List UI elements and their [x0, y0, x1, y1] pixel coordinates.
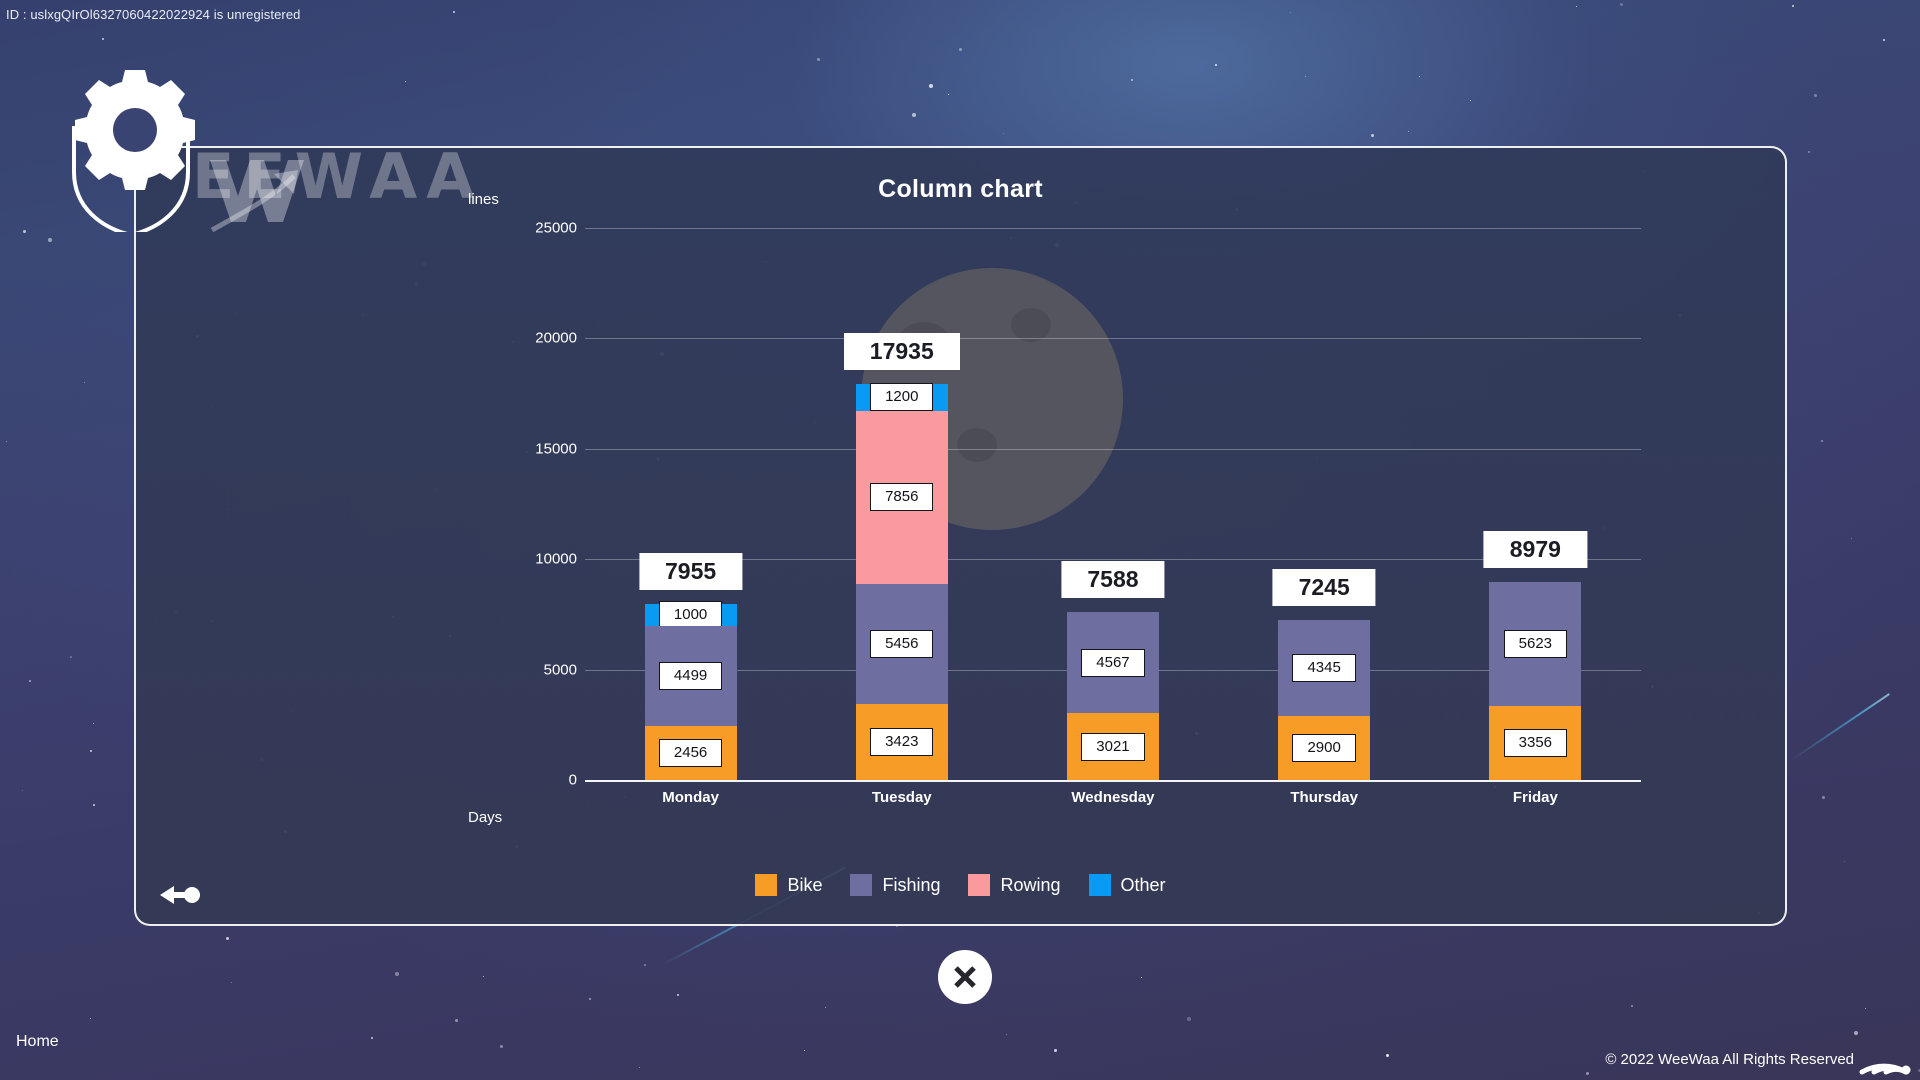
bar-segment-bike[interactable]: 3021: [1067, 713, 1159, 780]
close-icon: [950, 962, 980, 992]
chart-title: Column chart: [136, 175, 1785, 204]
stacked-bar[interactable]: 45673021: [1067, 612, 1159, 780]
footer-copyright: © 2022 WeeWaa All Rights Reserved: [1605, 1051, 1854, 1068]
stacked-bar[interactable]: 100044992456: [645, 604, 737, 780]
bar-segment-fishing[interactable]: 4345: [1278, 620, 1370, 716]
bar-column-group[interactable]: 7955100044992456Monday: [619, 228, 763, 780]
bar-segment-fishing[interactable]: 4499: [645, 626, 737, 725]
bar-total-label: 7245: [1273, 569, 1376, 606]
bar-columns: 7955100044992456Monday179351200785654563…: [585, 228, 1641, 780]
legend-label: Rowing: [1000, 875, 1060, 896]
x-axis-label: Days: [468, 809, 502, 826]
bar-segment-value: 5456: [870, 630, 933, 658]
bar-segment-value: 4499: [659, 662, 722, 690]
chart-legend: BikeFishingRowingOther: [136, 874, 1785, 896]
stacked-bar[interactable]: 56233356: [1489, 582, 1581, 780]
bar-segment-bike[interactable]: 2456: [645, 726, 737, 780]
bar-total-label: 7955: [639, 553, 742, 590]
y-axis-tick-label: 25000: [521, 220, 577, 237]
bar-segment-bike[interactable]: 3423: [856, 704, 948, 780]
legend-label: Other: [1121, 875, 1166, 896]
bar-column-group[interactable]: 724543452900Thursday: [1252, 228, 1396, 780]
stacked-bar[interactable]: 43452900: [1278, 620, 1370, 780]
bar-segment-value: 1000: [659, 601, 722, 629]
bar-column-group[interactable]: 179351200785654563423Tuesday: [830, 228, 974, 780]
wifi-icon: [1856, 1030, 1914, 1076]
legend-item-fishing[interactable]: Fishing: [850, 874, 940, 896]
home-label: Home: [16, 1033, 59, 1051]
y-axis-tick-label: 0: [521, 772, 577, 789]
bar-segment-value: 2900: [1292, 734, 1355, 762]
x-axis-category-label: Monday: [662, 789, 719, 806]
bar-segment-value: 3021: [1081, 733, 1144, 761]
bar-segment-value: 1200: [870, 383, 933, 411]
bar-column-group[interactable]: 758845673021Wednesday: [1041, 228, 1185, 780]
back-arrow-icon[interactable]: [158, 882, 200, 908]
bar-segment-other[interactable]: 1000: [645, 604, 737, 626]
bar-segment-other[interactable]: 1200: [856, 384, 948, 410]
page-root: ID : uslxgQIrOl6327060422022924 is unreg…: [0, 0, 1920, 1080]
x-axis-category-label: Wednesday: [1071, 789, 1154, 806]
bar-segment-bike[interactable]: 3356: [1489, 706, 1581, 780]
legend-item-rowing[interactable]: Rowing: [968, 874, 1060, 896]
legend-label: Bike: [787, 875, 822, 896]
home-menu[interactable]: Home: [16, 1033, 59, 1058]
legend-item-other[interactable]: Other: [1089, 874, 1166, 896]
bar-total-label: 17935: [844, 333, 960, 370]
x-axis-category-label: Thursday: [1290, 789, 1358, 806]
legend-item-bike[interactable]: Bike: [755, 874, 822, 896]
x-axis-line: [585, 780, 1641, 782]
legend-swatch-rowing: [968, 874, 990, 896]
y-axis-tick-label: 15000: [521, 440, 577, 457]
bar-segment-fishing[interactable]: 4567: [1067, 612, 1159, 713]
x-axis-category-label: Friday: [1513, 789, 1558, 806]
bar-total-label: 7588: [1061, 561, 1164, 598]
chart-panel: Column chart lines Days 0500010000150002…: [134, 146, 1787, 926]
legend-swatch-bike: [755, 874, 777, 896]
legend-swatch-fishing: [850, 874, 872, 896]
x-axis-category-label: Tuesday: [872, 789, 932, 806]
plot-area: 0500010000150002000025000 79551000449924…: [521, 228, 1641, 780]
close-button[interactable]: [938, 950, 992, 1004]
bar-segment-value: 2456: [659, 739, 722, 767]
bar-segment-value: 3423: [870, 728, 933, 756]
bar-segment-value: 5623: [1504, 630, 1567, 658]
y-axis-tick-label: 20000: [521, 330, 577, 347]
y-axis-label: lines: [468, 191, 499, 208]
bar-segment-rowing[interactable]: 7856: [856, 411, 948, 584]
legend-label: Fishing: [882, 875, 940, 896]
stacked-bar[interactable]: 1200785654563423: [856, 384, 948, 780]
y-axis-tick-label: 10000: [521, 551, 577, 568]
bar-column-group[interactable]: 897956233356Friday: [1463, 228, 1607, 780]
bar-segment-value: 7856: [870, 483, 933, 511]
bar-total-label: 8979: [1484, 531, 1587, 568]
y-axis-tick-label: 5000: [521, 661, 577, 678]
bar-segment-value: 4345: [1292, 654, 1355, 682]
bar-segment-bike[interactable]: 2900: [1278, 716, 1370, 780]
unregistered-id-notice: ID : uslxgQIrOl6327060422022924 is unreg…: [6, 7, 301, 22]
legend-swatch-other: [1089, 874, 1111, 896]
bar-segment-fishing[interactable]: 5623: [1489, 582, 1581, 706]
bar-segment-fishing[interactable]: 5456: [856, 584, 948, 704]
bar-segment-value: 4567: [1081, 649, 1144, 677]
bar-segment-value: 3356: [1504, 729, 1567, 757]
